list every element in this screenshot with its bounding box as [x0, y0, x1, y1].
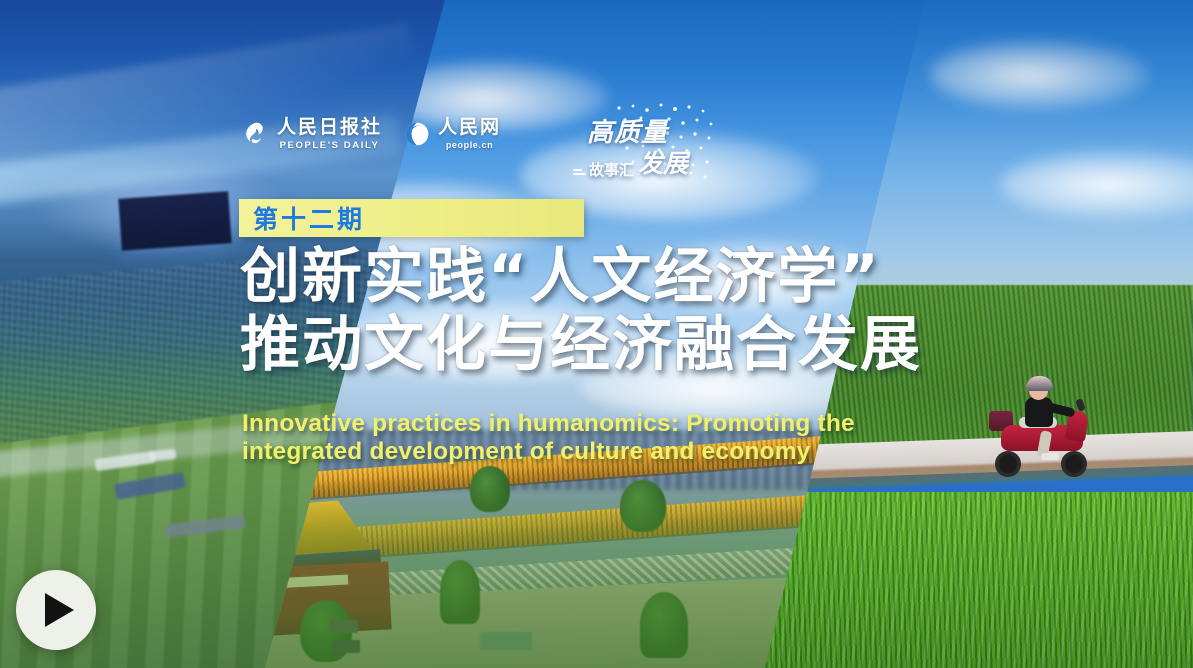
title-line-1: 创新实践“人文经济学”	[240, 244, 980, 312]
title-line-2: 推动文化与经济融合发展	[240, 312, 980, 380]
badge-lines-icon	[573, 169, 586, 180]
badge-sub-row: 故事汇 发展	[573, 144, 688, 180]
poster-subtitle: Innovative practices in humanomics: Prom…	[242, 410, 972, 467]
play-button[interactable]	[16, 570, 96, 650]
logo-people-cn: 人民网 people.cn	[404, 118, 501, 150]
scooter-front-wheel	[1061, 451, 1087, 477]
scooter-rider	[985, 395, 1103, 477]
logo-en-text: PEOPLE'S DAILY	[280, 141, 380, 151]
video-poster: 人民日报社 PEOPLE'S DAILY 人民网 people.cn	[0, 0, 1193, 668]
publisher-logos: 人民日报社 PEOPLE'S DAILY 人民网 people.cn	[243, 118, 501, 151]
program-badge: 高质量 故事汇 发展	[565, 104, 715, 180]
rider-foot	[1041, 453, 1059, 460]
subtitle-line-2: integrated development of culture and ec…	[242, 438, 972, 466]
badge-sub-text: 故事汇	[589, 159, 634, 180]
subtitle-line-1: Innovative practices in humanomics: Prom…	[242, 410, 972, 438]
rider-helmet	[1026, 376, 1053, 391]
poster-title: 创新实践“人文经济学” 推动文化与经济融合发展	[240, 244, 980, 380]
logo-cn-text: 人民网	[438, 118, 501, 137]
people-cn-wordmark: 人民网 people.cn	[438, 118, 501, 150]
peoples-daily-logo-icon	[243, 121, 269, 147]
episode-bar: 第十二期	[239, 199, 584, 237]
peoples-daily-wordmark: 人民日报社 PEOPLE'S DAILY	[277, 118, 382, 151]
play-icon	[45, 593, 74, 627]
scooter-rear-wheel	[995, 451, 1021, 477]
logo-en-text: people.cn	[446, 141, 493, 150]
people-cn-logo-icon	[404, 121, 430, 147]
logo-cn-text: 人民日报社	[277, 118, 382, 137]
logo-peoples-daily: 人民日报社 PEOPLE'S DAILY	[243, 118, 382, 151]
badge-main2-text: 发展	[638, 144, 688, 180]
episode-label: 第十二期	[239, 200, 365, 236]
stadium-screen	[118, 191, 231, 251]
scooter-mirror	[1075, 398, 1085, 412]
cloud	[930, 40, 1150, 110]
